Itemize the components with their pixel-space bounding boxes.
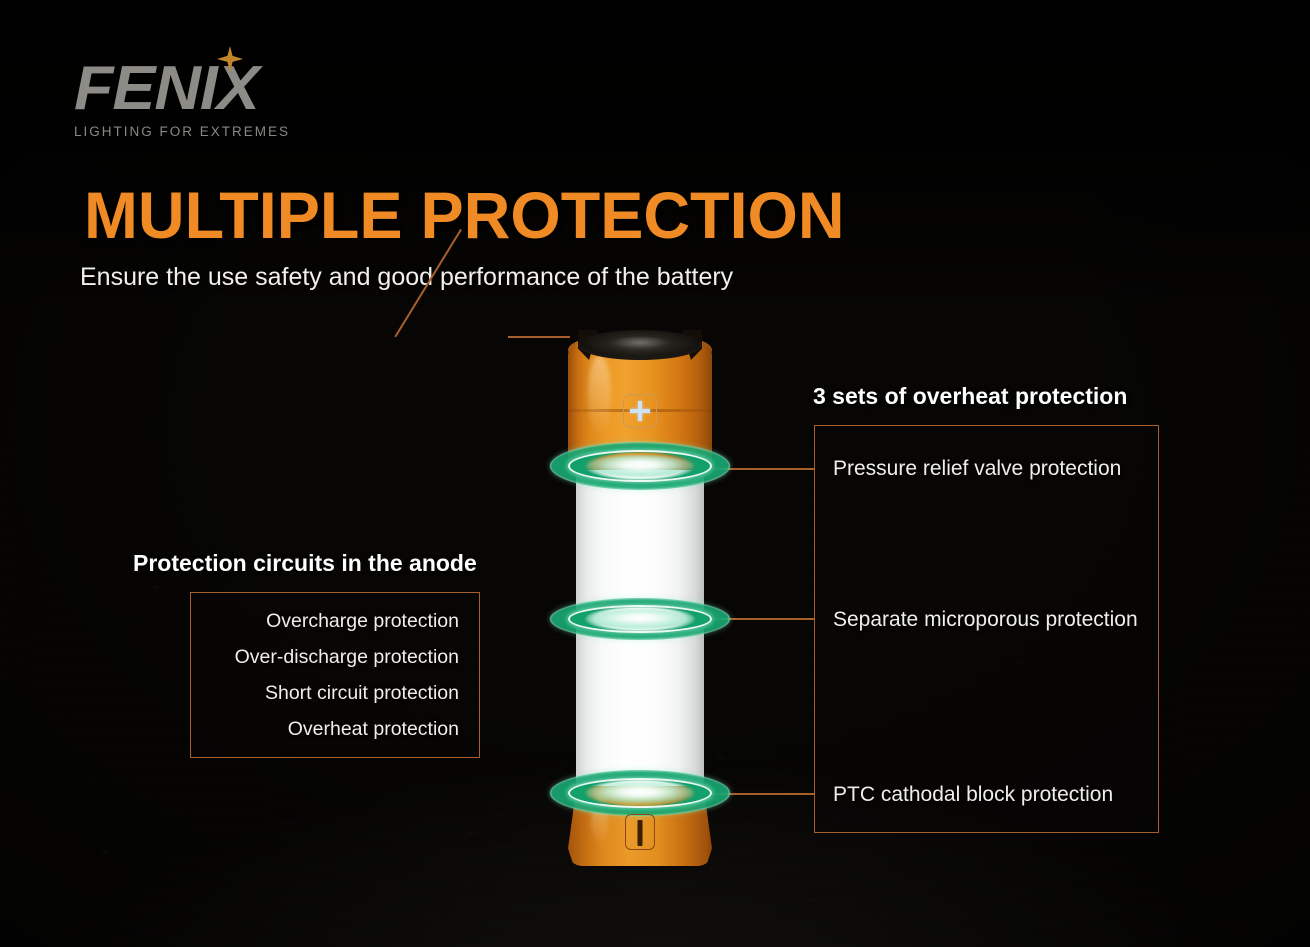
plus-icon <box>623 394 657 428</box>
anode-protection-box: Overcharge protection Over-discharge pro… <box>190 592 480 758</box>
overheat-protection-box: Pressure relief valve protection Separat… <box>814 425 1159 833</box>
page-subtitle: Ensure the use safety and good performan… <box>80 262 733 292</box>
overheat-section-heading: 3 sets of overheat protection <box>813 383 1127 410</box>
battery-illustration <box>560 330 720 878</box>
list-item: PTC cathodal block protection <box>833 782 1113 808</box>
infographic-canvas: FENIX LIGHTING FOR EXTREMES MULTIPLE PRO… <box>0 0 1310 947</box>
connector-line-overheat-2 <box>707 618 815 620</box>
brand-logo: FENIX LIGHTING FOR EXTREMES <box>74 58 374 139</box>
list-item: Pressure relief valve protection <box>833 456 1121 482</box>
list-item: Overheat protection <box>288 711 459 747</box>
connector-line-overheat-1 <box>707 468 815 470</box>
list-item: Overcharge protection <box>266 603 459 639</box>
list-item: Short circuit protection <box>265 675 459 711</box>
list-item: Over-discharge protection <box>235 639 459 675</box>
connector-line-overheat-3 <box>707 793 815 795</box>
list-item: Separate microporous protection <box>833 607 1138 633</box>
brand-tagline: LIGHTING FOR EXTREMES <box>74 124 374 139</box>
battery-body <box>576 458 704 798</box>
anode-section-heading: Protection circuits in the anode <box>133 550 477 577</box>
minus-icon <box>625 814 655 850</box>
page-title: MULTIPLE PROTECTION <box>84 180 845 250</box>
battery-positive-terminal <box>578 330 702 360</box>
